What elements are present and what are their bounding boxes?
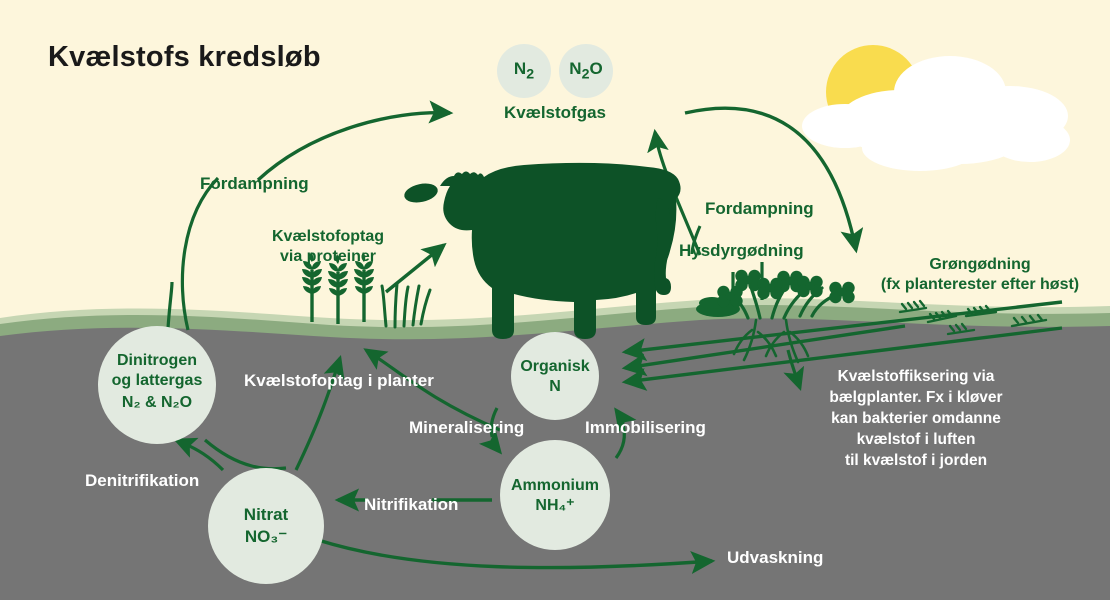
- label-kvaelstofoptag-planter: Kvælstofoptag i planter: [244, 372, 434, 391]
- gas-label-n2: N2: [499, 60, 549, 83]
- label-fordampning-left: Fordampning: [200, 175, 309, 194]
- nitrogen-cycle-diagram: Kvælstofs kredsløb N2 N2O Kvælstofgas Fo…: [0, 0, 1110, 600]
- label-kvaelstofoptag-proteiner-line1: Kvælstofoptag: [262, 228, 394, 246]
- node-label-organisk-line2: N: [505, 378, 605, 396]
- node-label-dinitrogen-line3: N₂ & N₂O: [97, 394, 217, 412]
- label-nitrifikation: Nitrifikation: [364, 496, 458, 515]
- label-fiksering-line3: kan bakterier omdanne: [786, 410, 1046, 427]
- label-fiksering-line1: Kvælstoffiksering via: [786, 368, 1046, 385]
- page-title: Kvælstofs kredsløb: [48, 42, 321, 74]
- label-grongodning-line1: Grøngødning: [873, 256, 1087, 274]
- node-label-nitrat-line1: Nitrat: [206, 506, 326, 525]
- node-nitrat[interactable]: [208, 468, 324, 584]
- node-ammonium[interactable]: [500, 440, 610, 550]
- gas-label-n2o: N2O: [558, 60, 614, 83]
- node-label-dinitrogen-line1: Dinitrogen: [97, 352, 217, 370]
- node-label-nitrat-line2: NO₃⁻: [206, 528, 326, 547]
- node-label-dinitrogen-line2: og lattergas: [97, 372, 217, 390]
- label-denitrifikation: Denitrifikation: [85, 472, 199, 491]
- label-immobilisering: Immobilisering: [585, 419, 706, 438]
- label-fiksering-line4: kvælstof i luften: [786, 431, 1046, 448]
- label-fiksering-line5: til kvælstof i jorden: [786, 452, 1046, 469]
- node-organisk-n[interactable]: [511, 332, 599, 420]
- label-udvaskning: Udvaskning: [727, 549, 823, 568]
- label-fiksering-line2: bælgplanter. Fx i kløver: [786, 389, 1046, 406]
- label-mineralisering: Mineralisering: [409, 419, 524, 438]
- node-label-ammonium-line1: Ammonium: [495, 477, 615, 495]
- node-label-organisk-line1: Organisk: [505, 358, 605, 376]
- label-kvaelstofoptag-proteiner-line2: via proteiner: [262, 248, 394, 266]
- label-fordampning-right: Fordampning: [705, 200, 814, 219]
- label-grongodning-line2: (fx planterester efter høst): [873, 276, 1087, 294]
- node-label-ammonium-line2: NH₄⁺: [495, 497, 615, 515]
- label-hysdyrgodning: Hysdyrgødning: [679, 242, 804, 261]
- gas-caption: Kvælstofgas: [485, 104, 625, 123]
